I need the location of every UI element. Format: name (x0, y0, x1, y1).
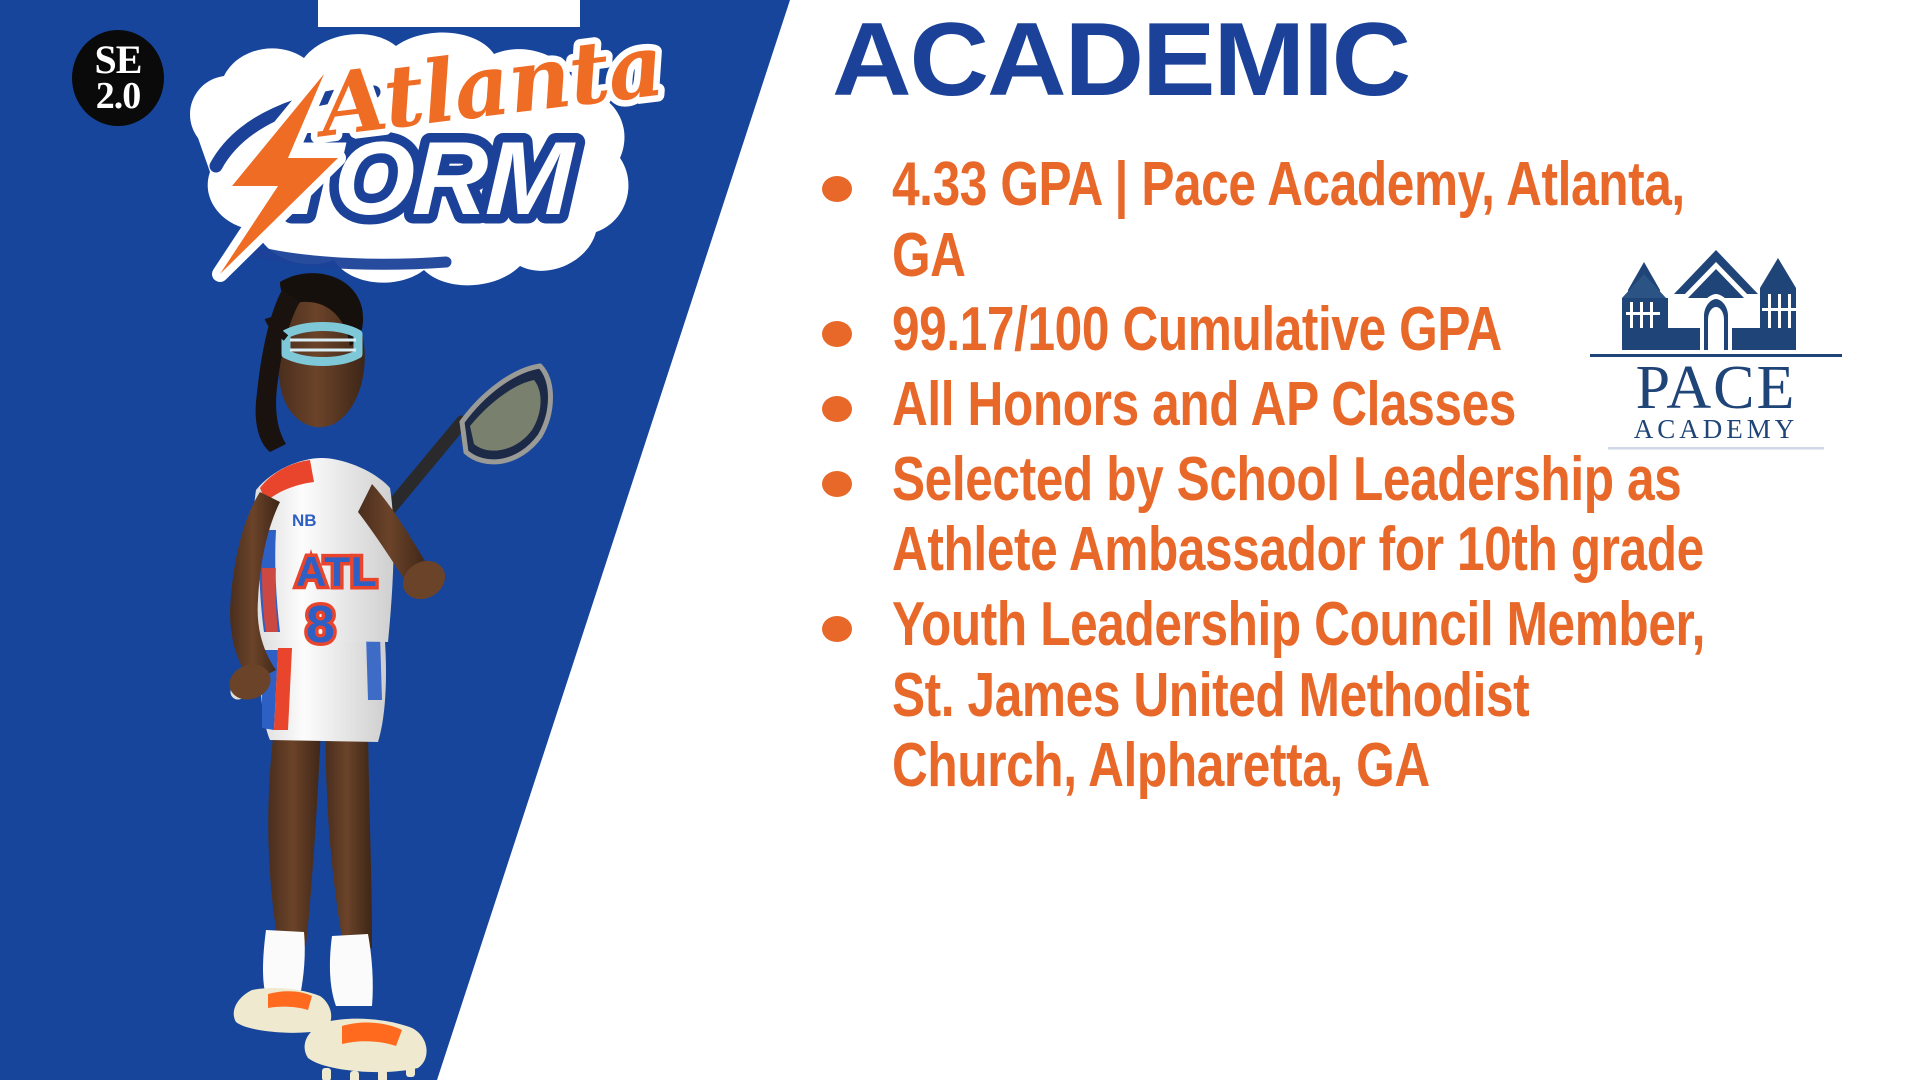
player-photo: NB ATL ATL 8 8 (110, 230, 630, 1080)
se-2-0-badge: SE 2.0 (72, 30, 164, 126)
bullet-text: Youth Leadership Council Member, St. Jam… (892, 590, 1708, 802)
bullet-dot-icon (822, 471, 852, 497)
se-badge-line1: SE (95, 43, 142, 77)
bullet-dot-icon (822, 321, 852, 347)
pace-rule-bottom (1608, 447, 1824, 450)
svg-text:8: 8 (306, 596, 335, 654)
slide-canvas: SE 2.0 TORM TORM (0, 0, 1920, 1080)
se-badge-line2: 2.0 (96, 80, 141, 113)
bullet-dot-icon (822, 396, 852, 422)
player-head (256, 273, 365, 452)
pace-wordmark-sub: ACADEMY (1634, 414, 1799, 444)
page-title: ACADEMIC (832, 8, 1409, 112)
pace-wordmark-main: PACE (1636, 354, 1797, 422)
svg-text:NB: NB (292, 511, 317, 530)
bullet-dot-icon (822, 616, 852, 642)
list-item: Selected by School Leadership as Athlete… (822, 445, 1912, 586)
content-column: ACADEMIC 4.33 GPA | Pace Academy, Atlant… (800, 0, 1920, 1080)
svg-text:ATL: ATL (296, 548, 378, 595)
player-cleats (234, 930, 427, 1080)
bullet-text: Selected by School Leadership as Athlete… (892, 445, 1708, 586)
bullet-dot-icon (822, 176, 852, 202)
list-item: Youth Leadership Council Member, St. Jam… (822, 590, 1912, 802)
pace-academy-logo: PACE ACADEMY (1582, 232, 1850, 454)
